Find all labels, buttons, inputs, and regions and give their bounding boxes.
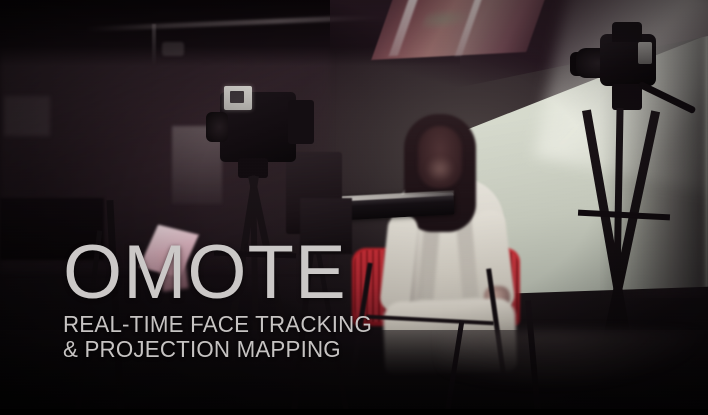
subtitle-line-2: & PROJECTION MAPPING (63, 337, 470, 362)
title-block: OMOTE REAL-TIME FACE TRACKING & PROJECTI… (63, 238, 483, 362)
face-projection-glow (426, 156, 454, 182)
video-still-frame: OMOTE REAL-TIME FACE TRACKING & PROJECTI… (0, 0, 708, 415)
camera-left-lcd-image (230, 91, 244, 103)
camera-left-lens (206, 112, 228, 142)
camera-right-viewfinder (612, 22, 642, 42)
page-title: OMOTE (63, 238, 483, 308)
camera-right-tripod-head (612, 84, 642, 110)
letterbox-bar-bottom (0, 409, 708, 415)
ceiling-pole (152, 24, 156, 66)
camera-left-hood (288, 100, 314, 144)
projected-artwork-detail (420, 7, 475, 31)
wall-panel (4, 96, 50, 136)
subtitle-line-1: REAL-TIME FACE TRACKING (63, 312, 470, 337)
camera-right-lcd-screen (638, 42, 652, 64)
ceiling-light-fixture (162, 42, 184, 56)
